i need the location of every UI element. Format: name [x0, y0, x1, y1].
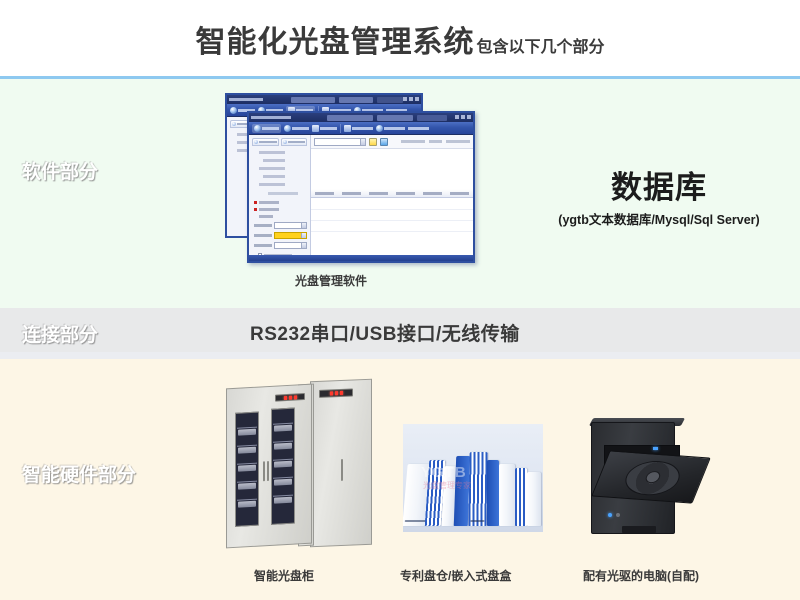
disc-stack: [274, 479, 292, 486]
toolbar-label: [352, 127, 373, 130]
front-panel-leds: [608, 513, 620, 517]
page-header: 智能化光盘管理系统 包含以下几个部分: [0, 0, 800, 77]
dropdown-icon[interactable]: [301, 233, 306, 238]
power-led-icon: [608, 513, 612, 517]
cartridge: [527, 472, 541, 526]
door-handle-icon: [263, 461, 265, 481]
required-field-row: [254, 201, 307, 204]
led-segment: [289, 395, 292, 399]
disc-icon: [283, 140, 287, 144]
toolbar-button-query[interactable]: [312, 125, 337, 132]
toolbar-button-export[interactable]: [284, 125, 309, 132]
disc-in-icon: [254, 125, 261, 132]
maximize-icon[interactable]: [409, 97, 413, 101]
tree-item[interactable]: [263, 159, 285, 162]
cabinet-caption: 智能光盘柜: [254, 567, 314, 584]
toolbar-button-help[interactable]: [408, 127, 429, 130]
app-window-front[interactable]: [247, 111, 475, 263]
title-field-2: [339, 97, 373, 103]
connection-text: RS232串口/USB接口/无线传输: [250, 319, 520, 346]
required-asterisk-icon: [254, 208, 257, 211]
dropdown-icon[interactable]: [301, 243, 306, 248]
connection-section-label: 连接部分: [22, 320, 98, 347]
computer-caption: 配有光驱的电脑(自配): [583, 567, 699, 584]
cartridge-caption: 专利盘仓/嵌入式盘盒: [400, 567, 511, 584]
tree-item[interactable]: [259, 151, 285, 154]
side-pane-front: [249, 135, 311, 261]
disc-stack: [274, 461, 292, 468]
door-handle-icon: [341, 459, 343, 481]
led-segment: [330, 391, 333, 395]
led-display-icon: [275, 393, 305, 402]
search-status: [401, 140, 470, 143]
software-section-label: 软件部分: [22, 157, 98, 184]
column-header: [423, 192, 442, 195]
row-separator: [311, 209, 473, 210]
side-tab-label: [259, 141, 277, 143]
required-field-row: [254, 208, 307, 211]
row-separator: [311, 231, 473, 232]
cartridge-blue: [468, 452, 487, 526]
close-icon[interactable]: [467, 115, 471, 119]
door-handle-icon: [267, 461, 269, 481]
gear-icon: [344, 125, 351, 132]
toolbar-button-import[interactable]: [252, 124, 281, 133]
toolbar-label: [408, 127, 429, 130]
toolbar-label: [262, 127, 279, 130]
grid-header-front: [311, 189, 473, 198]
side-tab-archive[interactable]: [281, 138, 308, 146]
disc-stack: [238, 429, 256, 436]
toolbar-label: [320, 127, 337, 130]
toolbar-label: [292, 127, 309, 130]
dropdown-icon[interactable]: [360, 139, 365, 145]
search-input[interactable]: [314, 138, 366, 146]
hdd-led-icon: [616, 513, 620, 517]
cabinet-left: [226, 384, 312, 549]
optical-drive-tray: [591, 450, 711, 503]
disc-out-icon: [284, 125, 291, 132]
main-pane-front: [311, 135, 473, 261]
header-title-group: 智能化光盘管理系统 包含以下几个部分: [195, 17, 604, 61]
search-button-icon[interactable]: [369, 138, 377, 146]
window-controls-front[interactable]: [455, 115, 471, 119]
cartridge-slot: [470, 520, 484, 522]
disc-stack: [238, 465, 256, 472]
side-tabs-front[interactable]: [252, 138, 307, 146]
toolbar-separator: [340, 124, 341, 133]
column-header: [342, 192, 361, 195]
field-row: [254, 215, 307, 218]
smart-disc-cabinet-image: [218, 378, 374, 553]
grid-rows-front[interactable]: [311, 198, 473, 261]
power-led-icon: [653, 447, 658, 450]
database-block: 数据库 (ygtb文本数据库/Mysql/Sql Server): [520, 162, 798, 228]
tree-item[interactable]: [263, 175, 285, 178]
cabinet-right: [310, 379, 372, 548]
status-text: [429, 140, 442, 143]
disc-stack: [238, 447, 256, 454]
refresh-button-icon[interactable]: [380, 138, 388, 146]
led-segment: [294, 395, 297, 399]
form-label: [254, 234, 272, 237]
poster-page: 智能化光盘管理系统 包含以下几个部分 软件部分: [0, 0, 800, 600]
disc-stack: [274, 425, 292, 432]
grid-blank-area[interactable]: [311, 149, 473, 189]
led-segment: [335, 391, 338, 395]
required-asterisk-icon: [254, 201, 257, 204]
column-header: [450, 192, 469, 195]
form-row[interactable]: [254, 242, 307, 249]
side-tab-label: [288, 141, 306, 143]
form-row-highlighted[interactable]: [254, 232, 307, 239]
row-separator: [311, 220, 473, 221]
disc-stack: [238, 501, 256, 508]
form-input-active[interactable]: [274, 232, 307, 239]
toolbar-button-manage[interactable]: [376, 125, 405, 132]
software-caption: 光盘管理软件: [295, 272, 367, 289]
column-header: [315, 192, 334, 195]
connection-band-footer: [0, 352, 800, 359]
close-icon[interactable]: [415, 97, 419, 101]
window-title-text: [251, 116, 291, 119]
cartridge-blue: [487, 460, 499, 526]
cartridge-slot: [405, 520, 427, 522]
cabinet-glass-right: [271, 408, 295, 525]
disc-in-icon: [230, 107, 237, 114]
cabinet-icon: [376, 125, 383, 132]
folder-icon: [254, 140, 258, 144]
side-note: [268, 192, 298, 195]
window-body-front: [249, 135, 473, 261]
software-screenshot: [225, 93, 455, 268]
column-header: [396, 192, 415, 195]
status-text: [401, 140, 425, 143]
window-status-bar: [249, 255, 473, 261]
page-subtitle: 包含以下几个部分: [476, 33, 604, 57]
window-title-bar-back: [227, 95, 421, 104]
field-label: [259, 201, 279, 204]
field-label: [259, 208, 279, 211]
column-header: [369, 192, 388, 195]
watermark-subtext: 光盘管理专家: [423, 480, 471, 491]
title-field-3: [377, 97, 403, 103]
form-label: [254, 244, 272, 247]
status-text: [446, 140, 470, 143]
tree-list-front[interactable]: [252, 149, 307, 186]
cabinet-glass-left: [235, 412, 259, 527]
window-controls-back[interactable]: [403, 97, 419, 101]
form-row[interactable]: [254, 222, 307, 229]
watermark-text: YGTB: [421, 464, 467, 481]
led-segment: [340, 391, 343, 395]
page-title: 智能化光盘管理系统: [195, 17, 474, 61]
window-title-text: [229, 98, 263, 101]
maximize-icon[interactable]: [461, 115, 465, 119]
toolbar-button-settings[interactable]: [344, 125, 373, 132]
form-input[interactable]: [274, 222, 307, 229]
title-field-1: [291, 97, 335, 103]
window-toolbar-front[interactable]: [249, 122, 473, 135]
title-field-1: [327, 115, 373, 121]
cartridge-blue: [515, 468, 527, 526]
search-bar-front[interactable]: [311, 135, 473, 149]
title-field-3: [417, 115, 447, 121]
form-input[interactable]: [274, 242, 307, 249]
tree-item[interactable]: [259, 167, 285, 170]
disc-stack: [274, 497, 292, 504]
minimize-icon[interactable]: [403, 97, 407, 101]
led-segment: [284, 396, 287, 400]
led-display-icon: [319, 388, 353, 397]
field-label: [259, 215, 273, 218]
window-title-bar-front: [249, 113, 473, 122]
minimize-icon[interactable]: [455, 115, 459, 119]
dropdown-icon[interactable]: [301, 223, 306, 228]
search-disc-icon: [312, 125, 319, 132]
database-title: 数据库: [520, 162, 798, 207]
tree-item[interactable]: [259, 183, 285, 186]
disc-stack: [274, 443, 292, 450]
folder-icon: [232, 122, 236, 126]
hardware-section-label: 智能硬件部分: [22, 460, 136, 487]
toolbar-label: [384, 127, 405, 130]
form-label: [254, 224, 272, 227]
disc-stack: [238, 483, 256, 490]
database-subtitle: (ygtb文本数据库/Mysql/Sql Server): [520, 209, 798, 228]
title-field-2: [377, 115, 413, 121]
pc-base: [622, 526, 656, 533]
disc-cartridge-image: YGTB 光盘管理专家: [403, 424, 543, 532]
computer-with-optical-drive-image: [583, 416, 713, 536]
side-tab-catalog[interactable]: [252, 138, 279, 146]
cartridge: [499, 464, 515, 526]
